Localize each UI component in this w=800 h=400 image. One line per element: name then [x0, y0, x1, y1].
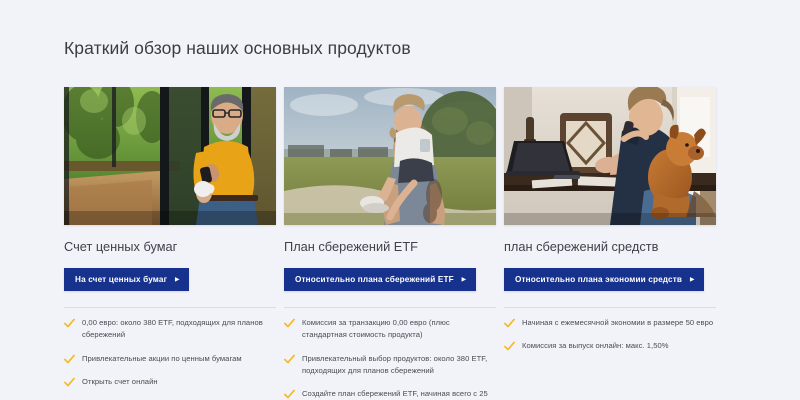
check-icon: [284, 389, 295, 400]
etf-savings-plan-button[interactable]: Относительно плана сбережений ETF ▸: [284, 268, 476, 291]
card-image-fund-savings-plan: [504, 87, 716, 225]
check-icon: [284, 318, 295, 329]
list-item: Открыть счет онлайн: [64, 376, 276, 388]
securities-account-button[interactable]: На счет ценных бумаг ▸: [64, 268, 189, 291]
card-cta-wrap: На счет ценных бумаг ▸: [64, 268, 276, 292]
check-icon: [64, 318, 75, 329]
card-title: Счет ценных бумаг: [64, 239, 276, 257]
list-item: Создайте план сбережений ETF, начиная вс…: [284, 388, 496, 400]
feature-text: Комиссия за транзакцию 0,00 евро (плюс с…: [302, 317, 496, 342]
button-label: Относительно плана сбережений ETF: [295, 275, 454, 284]
caret-right-icon: ▸: [690, 275, 694, 283]
feature-list: Начиная с ежемесячной экономии в размере…: [504, 317, 716, 353]
check-icon: [504, 341, 515, 352]
feature-text: Начиная с ежемесячной экономии в размере…: [522, 317, 713, 329]
feature-text: Создайте план сбережений ETF, начиная вс…: [302, 388, 496, 400]
list-item: 0,00 евро: около 380 ETF, подходящих для…: [64, 317, 276, 342]
check-icon: [64, 377, 75, 388]
card-title: план сбережений средств: [504, 239, 716, 257]
button-label: На счет ценных бумаг: [75, 275, 167, 284]
content-container: Краткий обзор наших основных продуктов: [64, 0, 736, 400]
product-card-list: Счет ценных бумаг На счет ценных бумаг ▸…: [64, 87, 736, 400]
list-item: Привлекательные акции по ценным бумагам: [64, 353, 276, 365]
product-card-securities-account: Счет ценных бумаг На счет ценных бумаг ▸…: [64, 87, 276, 400]
card-divider: [504, 307, 716, 308]
feature-text: Комиссия за выпуск онлайн: макс. 1,50%: [522, 340, 669, 352]
caret-right-icon: ▸: [175, 275, 179, 283]
card-title: План сбережений ETF: [284, 239, 496, 257]
check-icon: [504, 318, 515, 329]
card-image-securities-account: [64, 87, 276, 225]
product-card-fund-savings-plan: план сбережений средств Относительно пла…: [504, 87, 716, 400]
card-divider: [64, 307, 276, 308]
card-image-etf-savings-plan: [284, 87, 496, 225]
feature-text: 0,00 евро: около 380 ETF, подходящих для…: [82, 317, 276, 342]
list-item: Комиссия за транзакцию 0,00 евро (плюс с…: [284, 317, 496, 342]
list-item: Привлекательный выбор продуктов: около 3…: [284, 353, 496, 378]
product-card-etf-savings-plan: План сбережений ETF Относительно плана с…: [284, 87, 496, 400]
list-item: Комиссия за выпуск онлайн: макс. 1,50%: [504, 340, 716, 352]
fund-savings-plan-button[interactable]: Относительно плана экономии средств ▸: [504, 268, 704, 291]
page-root: Краткий обзор наших основных продуктов: [0, 0, 800, 400]
feature-list: 0,00 евро: около 380 ETF, подходящих для…: [64, 317, 276, 388]
feature-text: Привлекательные акции по ценным бумагам: [82, 353, 242, 365]
card-divider: [284, 307, 496, 308]
list-item: Начиная с ежемесячной экономии в размере…: [504, 317, 716, 329]
feature-text: Открыть счет онлайн: [82, 376, 158, 388]
feature-list: Комиссия за транзакцию 0,00 евро (плюс с…: [284, 317, 496, 400]
card-cta-wrap: Относительно плана сбережений ETF ▸: [284, 268, 496, 292]
check-icon: [284, 354, 295, 365]
check-icon: [64, 354, 75, 365]
page-title: Краткий обзор наших основных продуктов: [64, 0, 736, 59]
button-label: Относительно плана экономии средств: [515, 275, 682, 284]
caret-right-icon: ▸: [462, 275, 466, 283]
card-cta-wrap: Относительно плана экономии средств ▸: [504, 268, 716, 292]
feature-text: Привлекательный выбор продуктов: около 3…: [302, 353, 496, 378]
